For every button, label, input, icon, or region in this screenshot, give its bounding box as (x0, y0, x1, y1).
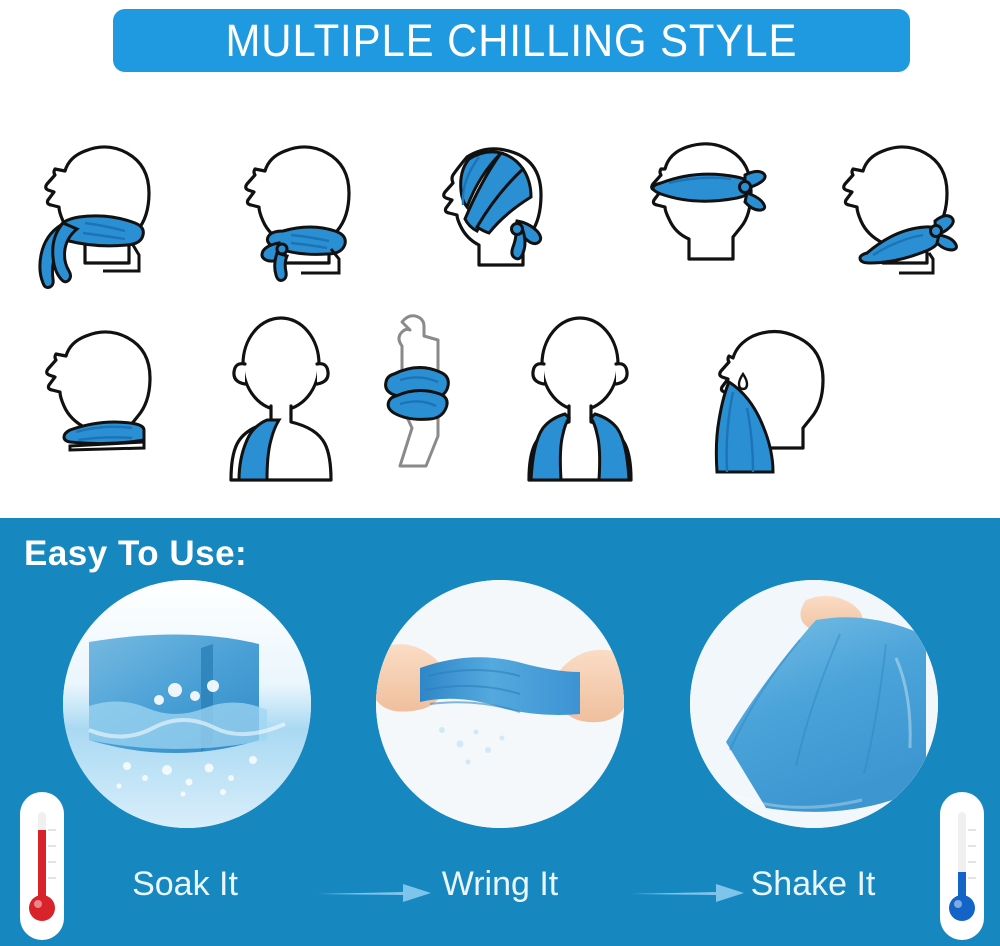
chilling-styles-gallery (0, 108, 1000, 508)
title-banner: MULTIPLE CHILLING STYLE (113, 9, 910, 72)
style-wrist-wrap (360, 303, 490, 493)
easy-to-use-panel: Easy To Use: (0, 518, 1000, 946)
style-face-wipe (670, 303, 870, 493)
step-photo-wring (376, 580, 624, 828)
step-label-shake: Shake It (688, 866, 938, 902)
styles-row-2 (0, 303, 1000, 493)
style-collar-wrap (0, 303, 200, 493)
style-head-wrap-bandana (400, 108, 600, 308)
steps-photos (0, 580, 1000, 828)
styles-row-1 (0, 108, 1000, 308)
product-infographic: MULTIPLE CHILLING STYLE (0, 0, 1000, 946)
step-label-soak: Soak It (60, 866, 310, 902)
step-photo-shake (690, 580, 938, 828)
style-shoulder-drape (200, 303, 360, 493)
style-neck-drape-both-shoulders (490, 303, 670, 493)
page-title: MULTIPLE CHILLING STYLE (226, 18, 798, 63)
easy-to-use-heading: Easy To Use: (24, 535, 247, 573)
step-label-wring: Wring It (375, 866, 625, 902)
style-neck-wrap-front-tie (0, 108, 200, 308)
thermometer-hot-icon (14, 790, 70, 942)
step-photo-soak (63, 580, 311, 828)
style-headband-eye-band (600, 108, 800, 308)
steps-labels-row: Soak It Wring It Shake It (0, 848, 1000, 918)
style-neck-wrap-knot (200, 108, 400, 308)
thermometer-cold-icon (934, 790, 990, 942)
style-neck-scarf-back-tie (800, 108, 1000, 308)
